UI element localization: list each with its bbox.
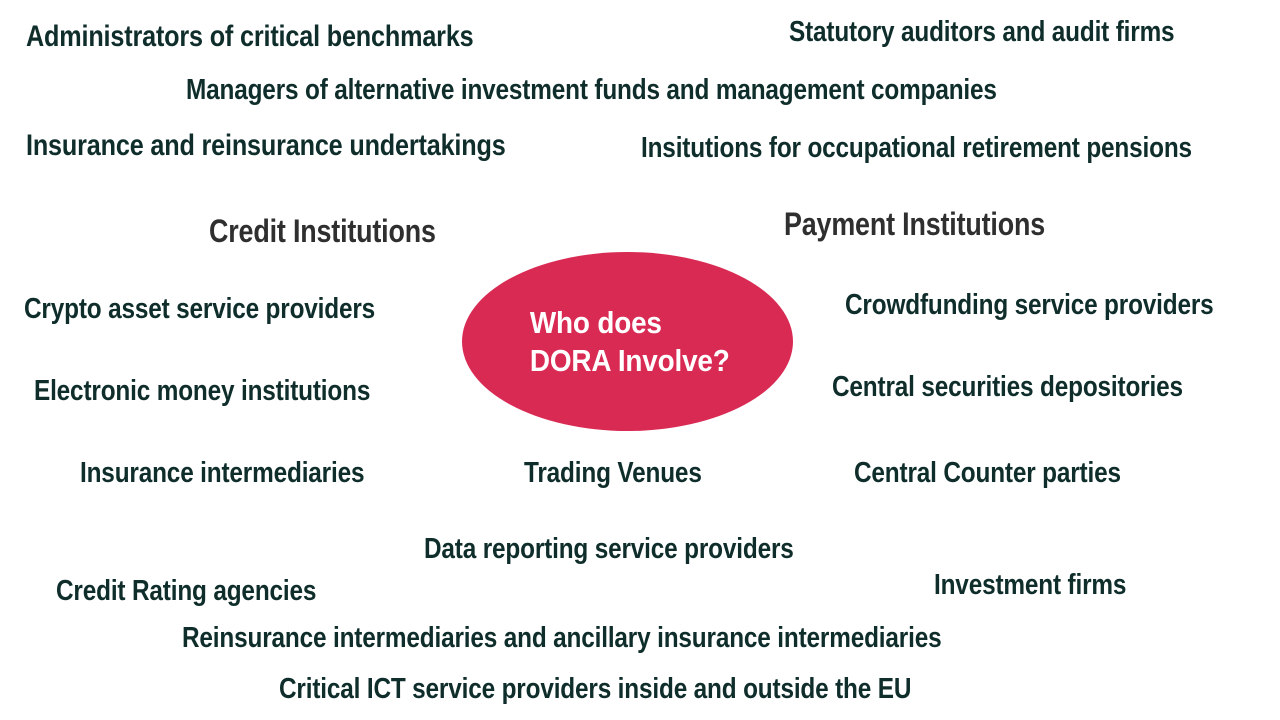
entity-label-text: Statutory auditors and audit firms — [789, 18, 1174, 47]
entity-label-investment-firms: Investment firms — [934, 571, 1163, 600]
entity-label-payment-institutions: Payment Institutions — [784, 208, 1095, 240]
entity-label-text: Data reporting service providers — [424, 535, 794, 564]
entity-label-electronic-money-institutions: Electronic money institutions — [34, 377, 434, 406]
entity-label-text: Insurance and reinsurance undertakings — [26, 131, 506, 161]
entity-label-text: Crypto asset service providers — [24, 295, 375, 324]
entity-label-central-counter-parties: Central Counter parties — [854, 459, 1172, 488]
entity-label-crowdfunding-service-providers: Crowdfunding service providers — [845, 291, 1280, 320]
entity-label-data-reporting-service-providers: Data reporting service providers — [424, 535, 864, 564]
entity-label-administrators-of-critical-benchmarks: Administrators of critical benchmarks — [26, 22, 559, 52]
entity-label-credit-institutions: Credit Institutions — [209, 215, 479, 247]
entity-label-critical-ict-service-providers: Critical ICT service providers inside an… — [279, 675, 1032, 704]
entity-label-statutory-auditors-and-audit-firms: Statutory auditors and audit firms — [789, 18, 1248, 47]
entity-label-trading-venues: Trading Venues — [524, 459, 736, 488]
entity-label-text: Managers of alternative investment funds… — [186, 76, 997, 105]
entity-label-crypto-asset-service-providers: Crypto asset service providers — [24, 295, 442, 324]
entity-label-text: Central securities depositories — [832, 373, 1183, 402]
entity-label-insitutions-for-occupational-retirement-pensions: Insitutions for occupational retirement … — [641, 134, 1280, 163]
center-ellipse-label: Who does DORA Involve? — [526, 304, 729, 380]
entity-label-text: Credit Rating agencies — [56, 577, 316, 606]
entity-label-central-securities-depositories: Central securities depositories — [832, 373, 1250, 402]
entity-label-text: Trading Venues — [524, 459, 702, 488]
entity-label-text: Critical ICT service providers inside an… — [279, 675, 911, 704]
entity-label-text: Investment firms — [934, 571, 1126, 600]
entity-label-text: Credit Institutions — [209, 215, 436, 247]
entity-label-text: Payment Institutions — [784, 208, 1045, 240]
entity-label-text: Electronic money institutions — [34, 377, 370, 406]
entity-label-text: Central Counter parties — [854, 459, 1121, 488]
entity-label-text: Crowdfunding service providers — [845, 291, 1214, 320]
entity-label-text: Reinsurance intermediaries and ancillary… — [182, 624, 941, 653]
entity-label-reinsurance-intermediaries-and-ancillary: Reinsurance intermediaries and ancillary… — [182, 624, 1086, 653]
entity-label-text: Administrators of critical benchmarks — [26, 22, 474, 52]
entity-label-text: Insurance intermediaries — [80, 459, 364, 488]
center-ellipse-who-does-dora-involve: Who does DORA Involve? — [462, 252, 793, 431]
entity-label-insurance-intermediaries: Insurance intermediaries — [80, 459, 419, 488]
entity-label-text: Insitutions for occupational retirement … — [641, 134, 1192, 163]
dora-scope-slide: Administrators of critical benchmarksSta… — [0, 0, 1280, 720]
entity-label-insurance-and-reinsurance-undertakings: Insurance and reinsurance undertakings — [26, 131, 597, 161]
entity-label-managers-of-alternative-investment-funds: Managers of alternative investment funds… — [186, 76, 1151, 105]
entity-label-credit-rating-agencies: Credit Rating agencies — [56, 577, 366, 606]
